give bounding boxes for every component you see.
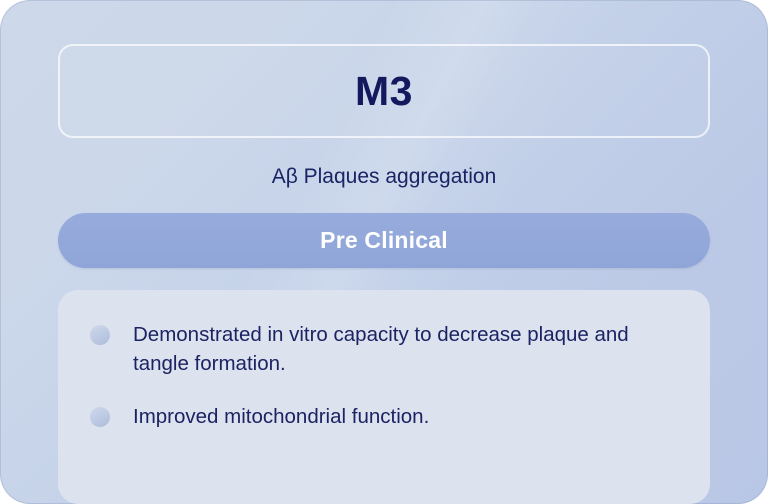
- molecule-card: M3 Aβ Plaques aggregation Pre Clinical D…: [0, 0, 768, 504]
- card-content: M3 Aβ Plaques aggregation Pre Clinical D…: [0, 0, 768, 504]
- page-title: M3: [355, 71, 413, 112]
- title-box: M3: [58, 44, 710, 138]
- highlights-list: Demonstrated in vitro capacity to decrea…: [90, 320, 684, 431]
- highlights-panel: Demonstrated in vitro capacity to decrea…: [58, 290, 710, 504]
- bullet-dot-icon: [90, 407, 110, 427]
- card-subtitle: Aβ Plaques aggregation: [58, 164, 710, 189]
- list-item: Demonstrated in vitro capacity to decrea…: [90, 320, 684, 378]
- list-item: Improved mitochondrial function.: [90, 402, 684, 431]
- list-item-label: Demonstrated in vitro capacity to decrea…: [133, 320, 645, 378]
- status-badge-label: Pre Clinical: [320, 227, 448, 254]
- status-badge: Pre Clinical: [58, 213, 710, 268]
- list-item-label: Improved mitochondrial function.: [133, 402, 429, 431]
- bullet-dot-icon: [90, 325, 110, 345]
